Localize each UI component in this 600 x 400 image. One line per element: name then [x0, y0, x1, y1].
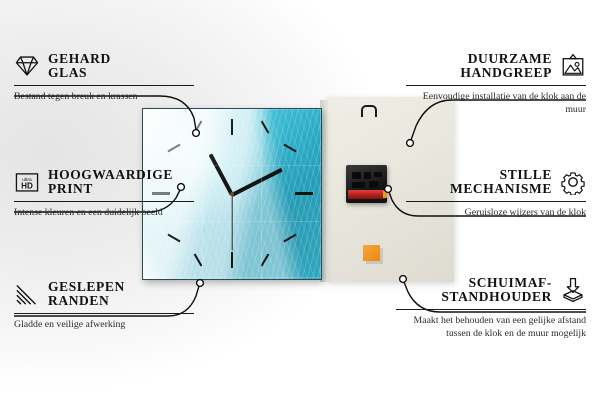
foam-spacer — [363, 245, 380, 261]
connector-endpoint — [197, 280, 204, 287]
ultra-hd-icon: ultra HD — [14, 169, 40, 195]
svg-text:HD: HD — [21, 182, 33, 191]
feature-duurzame-handgreep[interactable]: DUURZAME HANDGREEP Eenvoudige installati… — [406, 52, 586, 117]
feature-description: Bestand tegen breuk en krassen — [14, 90, 194, 104]
feature-header: DUURZAME HANDGREEP — [406, 52, 586, 81]
feature-titles: GESLEPEN RANDEN — [48, 280, 125, 309]
second-hand — [231, 195, 232, 251]
movement-slot — [352, 172, 361, 179]
movement-slot — [369, 181, 378, 188]
feature-titles: HOOGWAARDIGE PRINT — [48, 168, 173, 197]
feature-titles: SCHUIMAF- STANDHOUDER — [441, 276, 552, 305]
hour-marker — [295, 192, 313, 195]
feature-header: ultra HD HOOGWAARDIGE PRINT — [14, 168, 194, 197]
feature-title-line2: PRINT — [48, 182, 173, 196]
feature-header: GESLEPEN RANDEN — [14, 280, 194, 309]
movement-slot — [352, 182, 365, 188]
movement-slot — [374, 172, 382, 177]
feature-header: GEHARD GLAS — [14, 52, 194, 81]
feature-gehard-glas[interactable]: GEHARD GLAS Bestand tegen breuk en krass… — [14, 52, 194, 103]
divider — [14, 313, 194, 314]
feature-header: SCHUIMAF- STANDHOUDER — [396, 276, 586, 305]
divider — [406, 85, 586, 86]
feature-titles: GEHARD GLAS — [48, 52, 111, 81]
feature-title-line1: GESLEPEN — [48, 280, 125, 294]
press-down-pad-icon — [560, 277, 586, 303]
feature-title-line2: RANDEN — [48, 294, 125, 308]
hour-marker — [231, 119, 233, 135]
feature-titles: DUURZAME HANDGREEP — [460, 52, 552, 81]
feature-description: Geruisloze wijzers van de klok — [406, 206, 586, 220]
feature-header: STILLE MECHANISME — [406, 168, 586, 197]
movement-slot — [364, 172, 371, 179]
clock-pivot — [230, 192, 234, 196]
feature-title-line2: HANDGREEP — [460, 66, 552, 80]
infographic-canvas: GEHARD GLAS Bestand tegen breuk en krass… — [0, 0, 600, 400]
feature-titles: STILLE MECHANISME — [450, 168, 552, 197]
hanging-hook — [361, 105, 377, 117]
feature-hoogwaardige-print[interactable]: ultra HD HOOGWAARDIGE PRINT Intense kleu… — [14, 168, 194, 219]
gear-icon — [560, 169, 586, 195]
feature-stille-mechanisme[interactable]: STILLE MECHANISME Geruisloze wijzers van… — [406, 168, 586, 219]
feature-schuimaf-standhouder[interactable]: SCHUIMAF- STANDHOUDER Maakt het behouden… — [396, 276, 586, 341]
feature-title-line1: STILLE — [500, 168, 552, 182]
framed-picture-icon — [560, 53, 586, 79]
divider — [14, 201, 194, 202]
diamond-icon — [14, 53, 40, 79]
feature-title-line1: DUURZAME — [468, 52, 552, 66]
divider — [14, 85, 194, 86]
feature-description: Maakt het behouden van een gelijke afsta… — [396, 314, 586, 341]
feature-description: Intense kleuren en een duidelijk beeld — [14, 206, 194, 220]
clock-battery — [348, 190, 385, 199]
bevelled-edge-icon — [14, 281, 40, 307]
battery-terminal — [383, 191, 387, 198]
feature-description: Eenvoudige installatie van de klok aan d… — [406, 90, 586, 117]
feature-geslepen-randen[interactable]: GESLEPEN RANDEN Gladde en veilige afwerk… — [14, 280, 194, 331]
feature-title-line2: MECHANISME — [450, 182, 552, 196]
feature-title-line2: STANDHOUDER — [441, 290, 552, 304]
feature-title-line1: GEHARD — [48, 52, 111, 66]
feature-title-line1: HOOGWAARDIGE — [48, 168, 173, 182]
divider — [396, 309, 586, 310]
hour-marker — [231, 252, 233, 268]
feature-description: Gladde en veilige afwerking — [14, 318, 194, 332]
divider — [406, 201, 586, 202]
feature-title-line2: GLAS — [48, 66, 111, 80]
feature-title-line1: SCHUIMAF- — [469, 276, 552, 290]
